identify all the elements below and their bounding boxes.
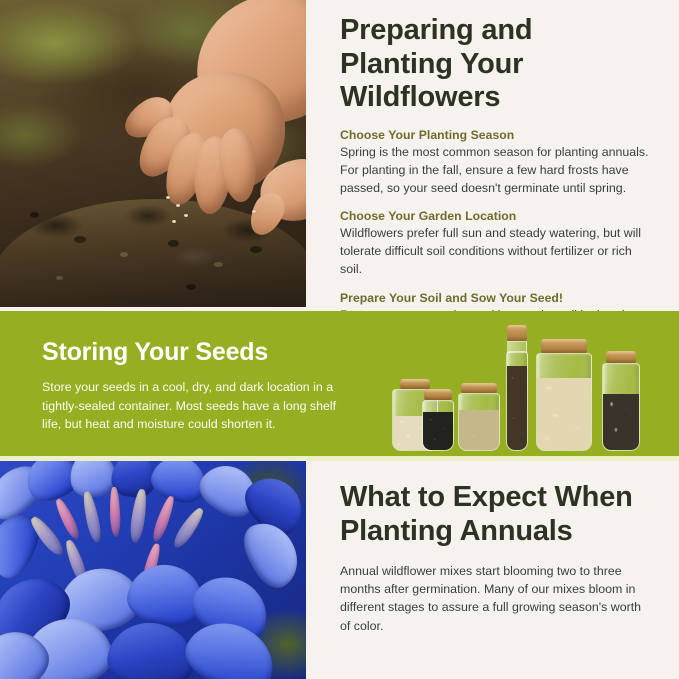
section-what-to-expect: What to Expect When Planting Annuals Ann… — [0, 461, 679, 679]
expect-title: What to Expect When Planting Annuals — [340, 481, 653, 548]
preparing-text-column: Preparing and Planting Your Wildflowers … — [306, 0, 679, 311]
seed — [172, 220, 176, 223]
section-preparing-and-planting: Preparing and Planting Your Wildflowers … — [0, 0, 679, 311]
seed — [176, 204, 180, 207]
storing-body: Store your seeds in a cool, dry, and dar… — [42, 378, 342, 434]
infographic-page: Preparing and Planting Your Wildflowers … — [0, 0, 679, 679]
seed — [184, 214, 188, 217]
seed-jar-4 — [506, 325, 528, 451]
seed-jar-2 — [422, 389, 454, 451]
seed-jar-6 — [602, 351, 640, 451]
seed — [252, 210, 256, 213]
seed-jar-5 — [536, 339, 592, 451]
seed — [166, 196, 170, 199]
subheading-planting-season: Choose Your Planting Season — [340, 128, 653, 142]
subheading-garden-location: Choose Your Garden Location — [340, 209, 653, 223]
body-garden-location: Wildflowers prefer full sun and steady w… — [340, 224, 653, 278]
seed-jars-image — [378, 317, 668, 455]
page-title: Preparing and Planting Your Wildflowers — [340, 14, 653, 115]
second-hand — [250, 160, 306, 244]
section-storing-your-seeds: Storing Your Seeds Store your seeds in a… — [0, 311, 679, 461]
body-planting-season: Spring is the most common season for pla… — [340, 143, 653, 197]
storing-text-block: Storing Your Seeds Store your seeds in a… — [42, 338, 342, 434]
storing-title: Storing Your Seeds — [42, 338, 342, 367]
blue-cornflower-image — [0, 461, 306, 679]
subheading-prepare-soil: Prepare Your Soil and Sow Your Seed! — [340, 291, 653, 305]
expect-text-column: What to Expect When Planting Annuals Ann… — [306, 461, 679, 679]
seed-jar-3 — [458, 383, 500, 451]
expect-body: Annual wildflower mixes start blooming t… — [340, 562, 653, 634]
hand-sowing-seeds-image — [0, 0, 306, 307]
